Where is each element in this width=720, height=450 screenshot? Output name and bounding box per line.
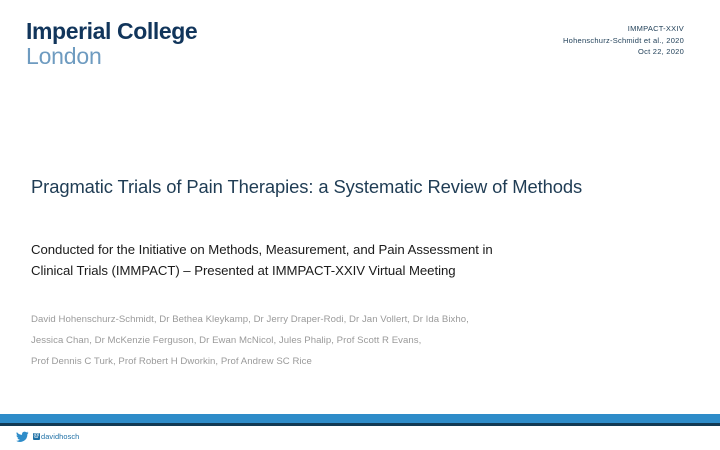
author-line-3: Prof Dennis C Turk, Prof Robert H Dworki… xyxy=(31,351,651,372)
meta-date: Oct 22, 2020 xyxy=(563,46,684,58)
meta-citation: Hohenschurz-Schmidt et al., 2020 xyxy=(563,35,684,47)
slide-meta-block: IMMPACT-XXIV Hohenschurz-Schmidt et al.,… xyxy=(563,23,684,58)
at-symbol-icon: @ xyxy=(33,433,40,440)
subtitle-line-2: Clinical Trials (IMMPACT) – Presented at… xyxy=(31,260,631,281)
logo-text-imperial-college: Imperial College xyxy=(26,20,197,43)
twitter-handle-name: davidhosch xyxy=(41,432,79,441)
footer-accent-bar-shade xyxy=(0,423,720,426)
author-line-2: Jessica Chan, Dr McKenzie Ferguson, Dr E… xyxy=(31,330,651,351)
twitter-handle[interactable]: @ davidhosch xyxy=(16,430,79,443)
page-title: Pragmatic Trials of Pain Therapies: a Sy… xyxy=(31,176,691,198)
twitter-handle-text: @ davidhosch xyxy=(33,432,79,441)
meta-conference-name: IMMPACT-XXIV xyxy=(563,23,684,35)
imperial-college-london-logo: Imperial College London xyxy=(26,20,197,68)
slide-canvas: Imperial College London IMMPACT-XXIV Hoh… xyxy=(0,0,720,450)
twitter-bird-icon xyxy=(16,430,29,443)
author-line-1: David Hohenschurz-Schmidt, Dr Bethea Kle… xyxy=(31,309,651,330)
logo-text-london: London xyxy=(26,45,197,68)
subtitle-line-1: Conducted for the Initiative on Methods,… xyxy=(31,239,631,260)
author-list: David Hohenschurz-Schmidt, Dr Bethea Kle… xyxy=(31,309,651,372)
page-subtitle: Conducted for the Initiative on Methods,… xyxy=(31,239,631,282)
